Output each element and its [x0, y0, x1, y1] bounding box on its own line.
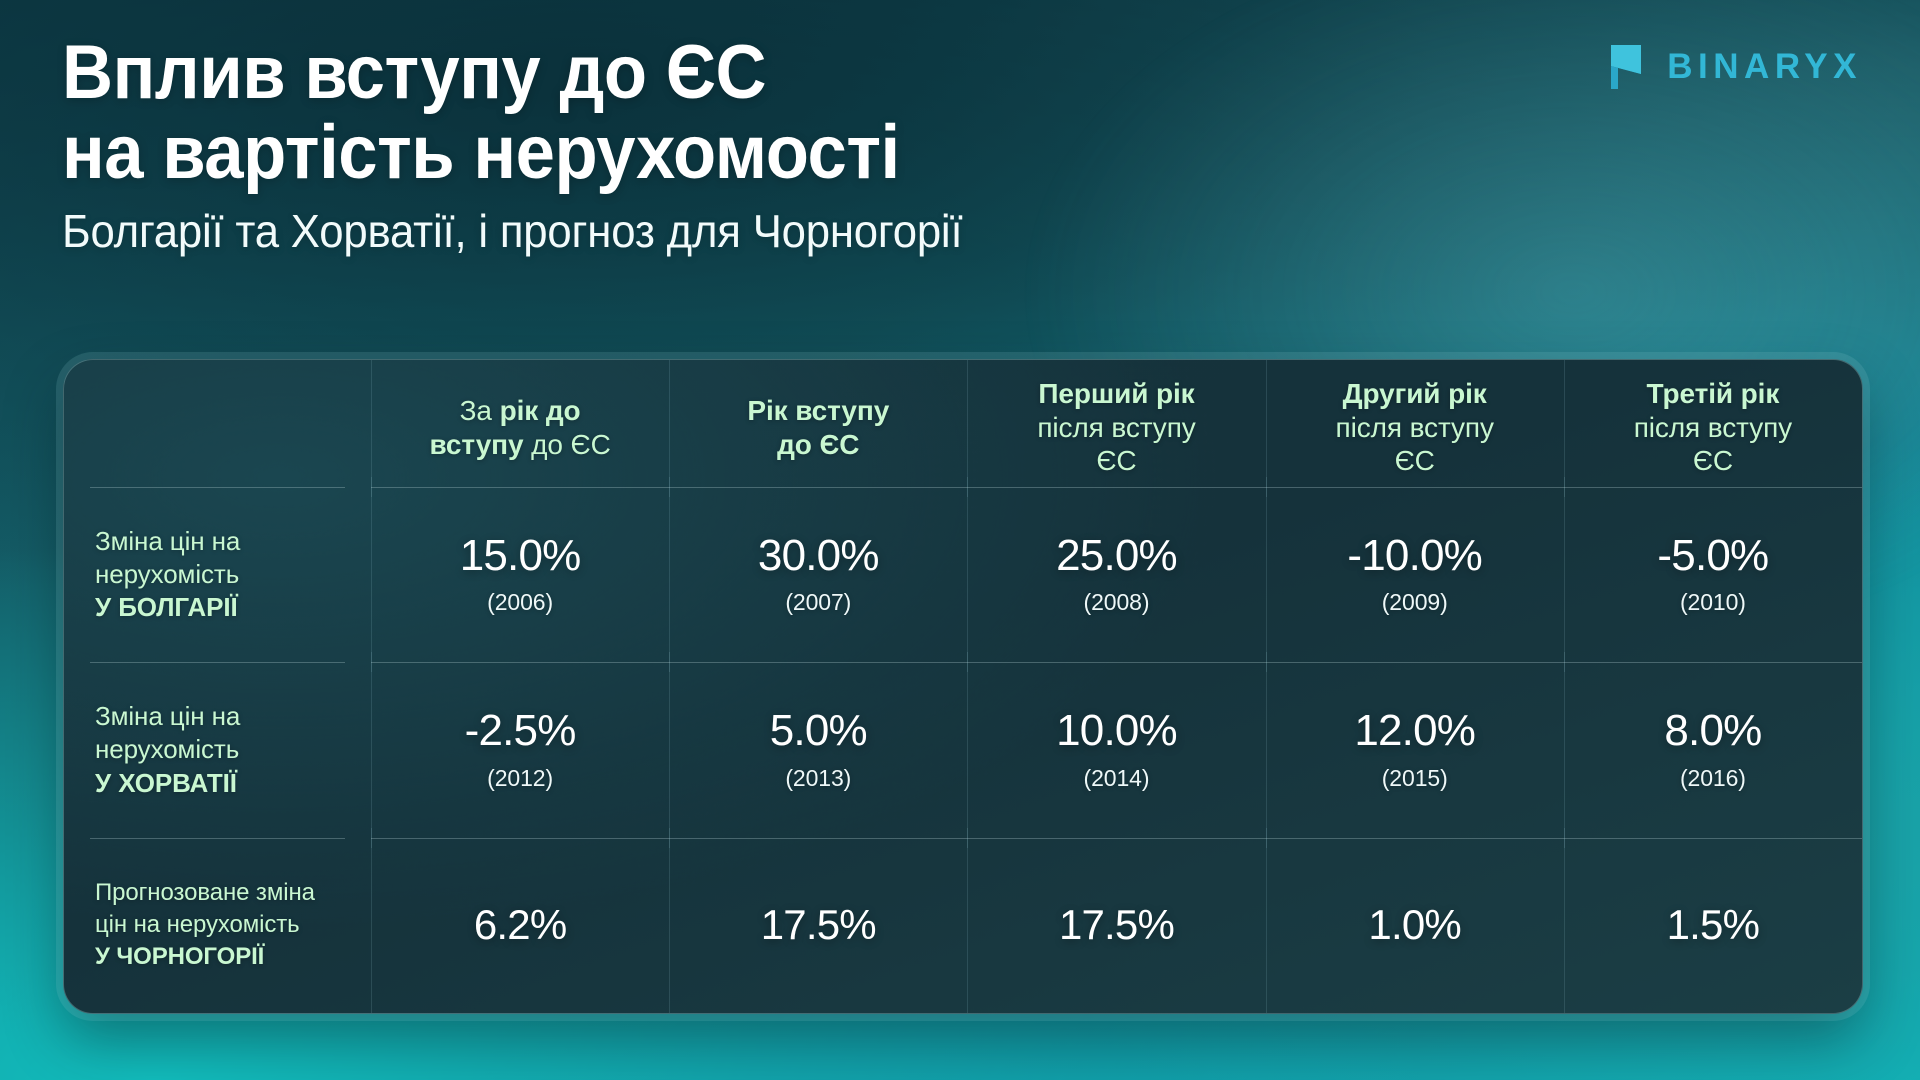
- column-header-2: Рік вступудо ЄС: [669, 360, 967, 487]
- text-fragment: вступу: [430, 429, 524, 460]
- page-subtitle: Болгарії та Хорватії, і прогноз для Чорн…: [62, 207, 1411, 255]
- row-header-label: Зміна цін нанерухомістьУ БОЛГАРІЇ: [95, 525, 240, 624]
- text-fragment: після вступу: [1634, 412, 1792, 443]
- cell-value: 6.2%: [474, 903, 567, 948]
- cell-value: 1.0%: [1368, 903, 1461, 948]
- table-cell: 25.0%(2008): [967, 487, 1265, 662]
- text-fragment: ЄС: [1693, 445, 1733, 476]
- text-fragment: після вступу: [1336, 412, 1494, 443]
- row-header-1: Зміна цін нанерухомістьУ БОЛГАРІЇ: [64, 487, 371, 662]
- comparison-table-panel: За рік довступу до ЄСРік вступудо ЄСПерш…: [63, 359, 1863, 1014]
- text-fragment: після вступу: [1037, 412, 1195, 443]
- table-cell: 15.0%(2006): [371, 487, 669, 662]
- cell-value: 10.0%: [1056, 708, 1177, 755]
- table-cell: -10.0%(2009): [1266, 487, 1564, 662]
- text-fragment: до ЄС: [523, 429, 610, 460]
- table-corner-cell: [64, 360, 371, 487]
- column-header-1: За рік довступу до ЄС: [371, 360, 669, 487]
- table-cell: 10.0%(2014): [967, 662, 1265, 837]
- table-cell: 1.5%: [1564, 838, 1862, 1013]
- text-fragment: ЄС: [1096, 445, 1136, 476]
- cell-year: (2013): [785, 765, 851, 792]
- column-header-label: Перший рікпісля вступуЄС: [1037, 377, 1195, 478]
- cell-value: -5.0%: [1657, 533, 1768, 580]
- column-header-label: Третій рікпісля вступуЄС: [1634, 377, 1792, 478]
- text-fragment: Рік вступу: [747, 395, 889, 426]
- text-fragment: нерухомість: [95, 559, 239, 589]
- table-cell: 6.2%: [371, 838, 669, 1013]
- text-fragment: рік до: [500, 395, 581, 426]
- cell-year: (2015): [1382, 765, 1448, 792]
- text-fragment: Прогнозоване зміна: [95, 879, 315, 906]
- column-header-label: Рік вступудо ЄС: [747, 394, 889, 461]
- page-header: Вплив вступу до ЄС на вартість нерухомос…: [0, 0, 1920, 300]
- cell-value: 1.5%: [1667, 903, 1760, 948]
- table-cell: 30.0%(2007): [669, 487, 967, 662]
- cell-value: 17.5%: [761, 903, 876, 948]
- cell-year: (2010): [1680, 589, 1746, 616]
- table-cell: 1.0%: [1266, 838, 1564, 1013]
- cell-year: (2016): [1680, 765, 1746, 792]
- cell-year: (2008): [1084, 589, 1150, 616]
- cell-value: 8.0%: [1664, 708, 1761, 755]
- cell-value: 15.0%: [460, 533, 581, 580]
- table-cell: -5.0%(2010): [1564, 487, 1862, 662]
- text-fragment: до ЄС: [777, 429, 859, 460]
- cell-year: (2012): [487, 765, 553, 792]
- page-title-line-1: Вплив вступу до ЄС: [62, 36, 1383, 110]
- text-fragment: У ЧОРНОГОРІЇ: [95, 943, 264, 970]
- brand-logo-text: BINARYX: [1667, 47, 1862, 87]
- row-header-label: Зміна цін нанерухомістьУ ХОРВАТІЇ: [95, 700, 240, 799]
- cell-value: -2.5%: [465, 708, 576, 755]
- text-fragment: ЄС: [1395, 445, 1435, 476]
- cell-year: (2007): [785, 589, 851, 616]
- text-fragment: нерухомість: [95, 734, 239, 764]
- cell-value: -10.0%: [1347, 533, 1482, 580]
- text-fragment: Зміна цін на: [95, 701, 240, 731]
- cell-value: 25.0%: [1056, 533, 1177, 580]
- text-fragment: За: [460, 395, 500, 426]
- cell-value: 17.5%: [1059, 903, 1174, 948]
- text-fragment: цін на нерухомість: [95, 911, 300, 938]
- column-header-5: Третій рікпісля вступуЄС: [1564, 360, 1862, 487]
- row-header-2: Зміна цін нанерухомістьУ ХОРВАТІЇ: [64, 662, 371, 837]
- column-header-3: Перший рікпісля вступуЄС: [967, 360, 1265, 487]
- binaryx-flag-mark-icon: [1608, 44, 1650, 90]
- text-fragment: Третій рік: [1647, 378, 1780, 409]
- column-header-label: За рік довступу до ЄС: [430, 394, 611, 461]
- text-fragment: Другий рік: [1343, 378, 1487, 409]
- table-cell: 5.0%(2013): [669, 662, 967, 837]
- comparison-table: За рік довступу до ЄСРік вступудо ЄСПерш…: [64, 360, 1862, 1013]
- table-cell: 17.5%: [967, 838, 1265, 1013]
- row-header-label: Прогнозоване змінацін на нерухомістьУ ЧО…: [95, 877, 315, 973]
- cell-year: (2014): [1084, 765, 1150, 792]
- row-header-3: Прогнозоване змінацін на нерухомістьУ ЧО…: [64, 838, 371, 1013]
- table-cell: 17.5%: [669, 838, 967, 1013]
- table-cell: 12.0%(2015): [1266, 662, 1564, 837]
- cell-year: (2009): [1382, 589, 1448, 616]
- column-header-label: Другий рікпісля вступуЄС: [1336, 377, 1494, 478]
- cell-value: 5.0%: [770, 708, 867, 755]
- text-fragment: Перший рік: [1038, 378, 1194, 409]
- page-title-line-2: на вартість нерухомості: [62, 116, 1383, 190]
- text-fragment: У ХОРВАТІЇ: [95, 768, 237, 798]
- column-header-4: Другий рікпісля вступуЄС: [1266, 360, 1564, 487]
- table-cell: 8.0%(2016): [1564, 662, 1862, 837]
- title-block: Вплив вступу до ЄС на вартість нерухомос…: [62, 36, 1482, 255]
- text-fragment: У БОЛГАРІЇ: [95, 592, 238, 622]
- brand-logo[interactable]: BINARYX: [1608, 44, 1862, 90]
- cell-value: 12.0%: [1354, 708, 1475, 755]
- table-cell: -2.5%(2012): [371, 662, 669, 837]
- text-fragment: Зміна цін на: [95, 526, 240, 556]
- cell-value: 30.0%: [758, 533, 879, 580]
- cell-year: (2006): [487, 589, 553, 616]
